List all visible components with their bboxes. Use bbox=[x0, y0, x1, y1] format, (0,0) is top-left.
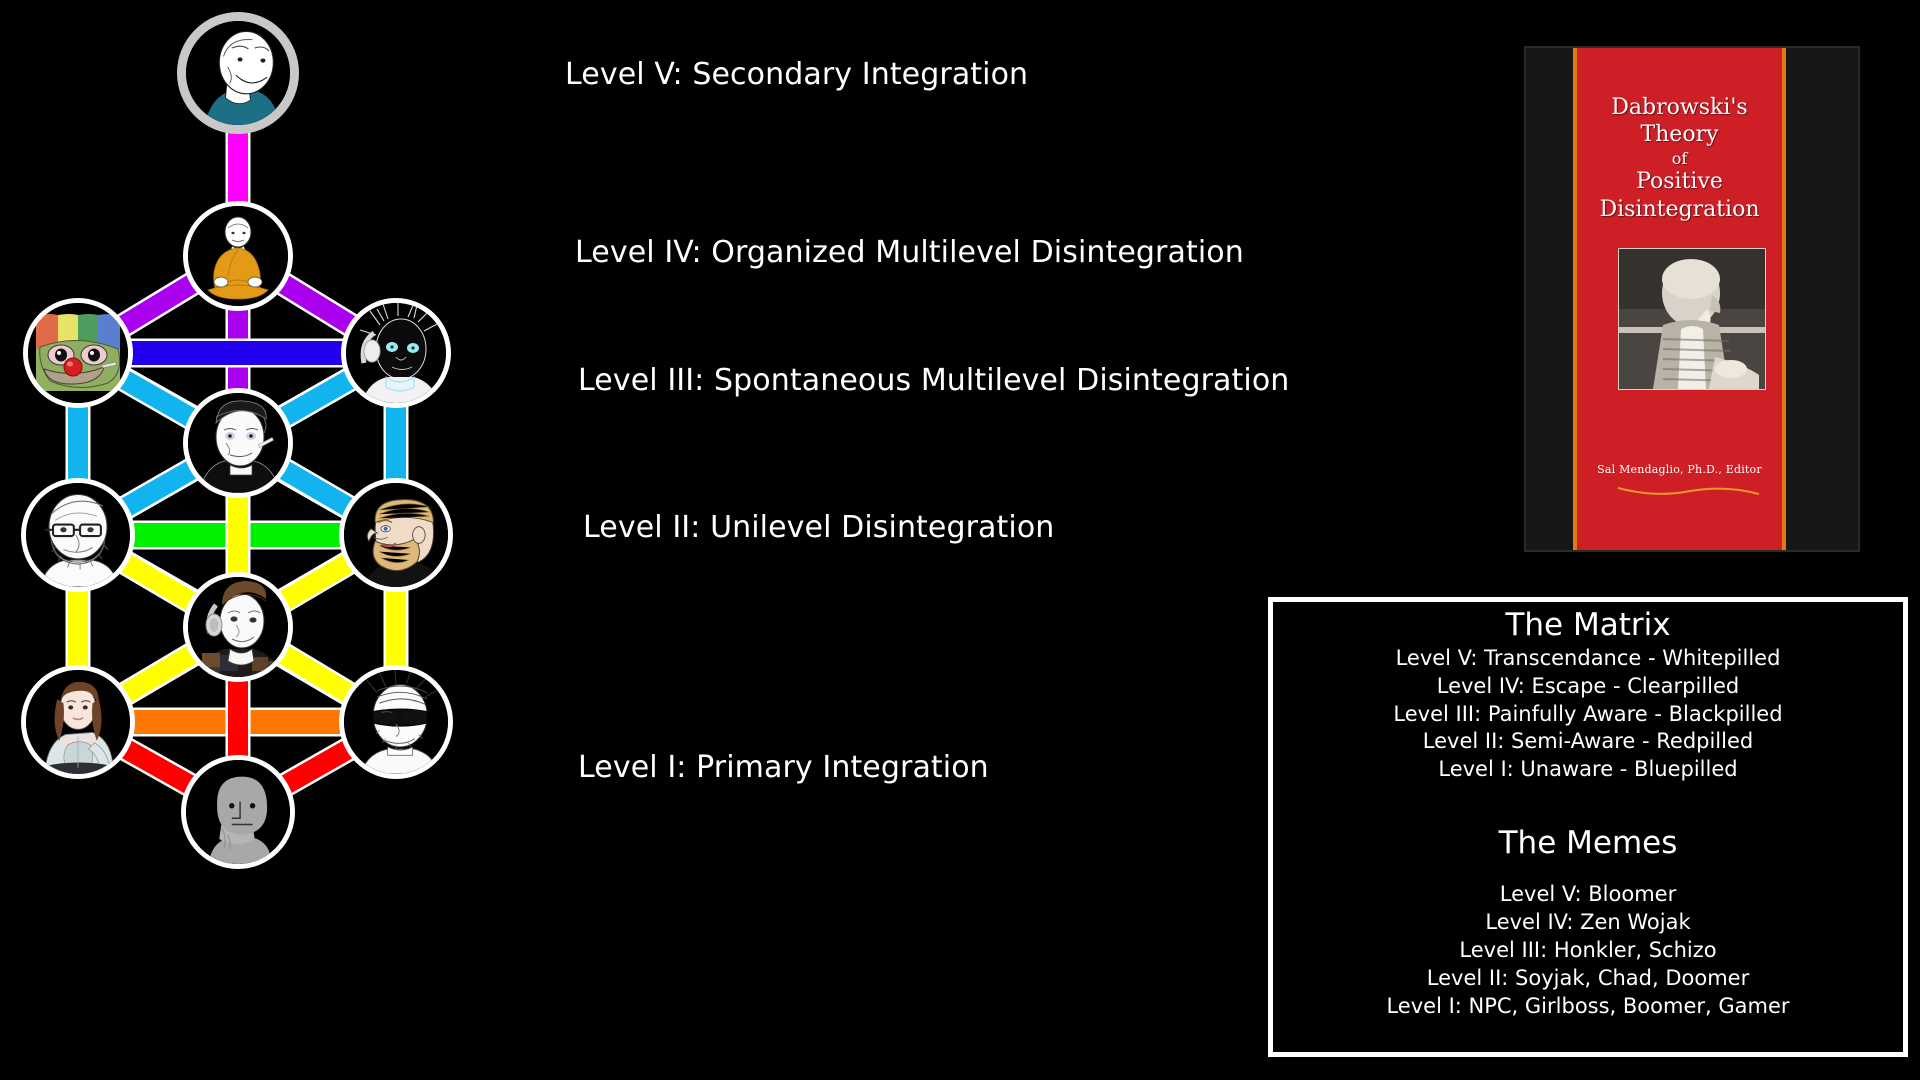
edge-yellow bbox=[283, 654, 348, 693]
matrix-list-item: Level II: Semi-Aware - Redpilled bbox=[1273, 728, 1903, 756]
edge-purple bbox=[283, 284, 351, 326]
book-title-line-5: Disintegration bbox=[1577, 196, 1782, 223]
memes-list-item: Level II: Soyjak, Chad, Doomer bbox=[1273, 965, 1903, 993]
level-label-level-5: Level V: Secondary Integration bbox=[565, 57, 1028, 92]
node-soyjak[interactable] bbox=[21, 478, 135, 592]
girlboss-avatar-icon bbox=[26, 670, 130, 774]
edge-red bbox=[126, 749, 190, 785]
level-label-level-1: Level I: Primary Integration bbox=[578, 750, 989, 785]
edge-cyan bbox=[126, 469, 192, 507]
matrix-list: Level V: Transcendance - WhitepilledLeve… bbox=[1273, 645, 1903, 785]
node-bloomer[interactable] bbox=[177, 12, 299, 134]
book-title: Dabrowski's Theory of Positive Disintegr… bbox=[1577, 94, 1782, 223]
honkler-avatar-icon bbox=[28, 303, 128, 403]
edge-yellow bbox=[125, 654, 192, 694]
memes-list-item: Level IV: Zen Wojak bbox=[1273, 909, 1903, 937]
memes-list-item: Level I: NPC, Girlboss, Boomer, Gamer bbox=[1273, 993, 1903, 1021]
node-girlboss[interactable] bbox=[21, 665, 135, 779]
soyjak-avatar-icon bbox=[26, 483, 130, 587]
npc-avatar-icon bbox=[186, 760, 290, 864]
node-chad[interactable] bbox=[339, 478, 453, 592]
gamer-avatar-icon bbox=[188, 577, 288, 677]
boomer-avatar-icon bbox=[344, 670, 448, 774]
book-title-line-4: Positive bbox=[1577, 168, 1782, 195]
node-gamer[interactable] bbox=[183, 572, 293, 682]
info-panel: The Matrix Level V: Transcendance - Whit… bbox=[1268, 597, 1908, 1057]
node-doomer[interactable] bbox=[183, 388, 293, 498]
memes-list-item: Level V: Bloomer bbox=[1273, 881, 1903, 909]
level-label-level-3: Level III: Spontaneous Multilevel Disint… bbox=[578, 363, 1289, 398]
level-label-level-2: Level II: Unilevel Disintegration bbox=[583, 510, 1054, 545]
matrix-list-item: Level I: Unaware - Bluepilled bbox=[1273, 756, 1903, 784]
memes-list: Level V: BloomerLevel IV: Zen WojakLevel… bbox=[1273, 881, 1903, 1021]
book-title-line-2: Theory bbox=[1577, 121, 1782, 148]
chad-avatar-icon bbox=[344, 483, 448, 587]
edge-red bbox=[286, 749, 348, 785]
node-zen-wojak[interactable] bbox=[183, 201, 293, 311]
schizo-avatar-icon bbox=[346, 303, 446, 403]
node-schizo[interactable] bbox=[341, 298, 451, 408]
book-title-line-1: Dabrowski's bbox=[1577, 94, 1782, 121]
matrix-list-item: Level III: Painfully Aware - Blackpilled bbox=[1273, 701, 1903, 729]
doomer-avatar-icon bbox=[188, 393, 288, 493]
matrix-list-item: Level IV: Escape - Clearpilled bbox=[1273, 673, 1903, 701]
book-author-photo bbox=[1618, 248, 1766, 390]
zen-wojak-avatar-icon bbox=[188, 206, 288, 306]
tree-of-life-diagram bbox=[0, 0, 580, 1080]
memes-heading: The Memes bbox=[1273, 826, 1903, 861]
node-boomer[interactable] bbox=[339, 665, 453, 779]
book-swash-ornament bbox=[1616, 484, 1761, 498]
matrix-heading: The Matrix bbox=[1273, 608, 1903, 643]
node-npc[interactable] bbox=[181, 755, 295, 869]
book-title-line-3: of bbox=[1577, 149, 1782, 169]
book-editor: Sal Mendaglio, Ph.D., Editor bbox=[1577, 463, 1782, 476]
book-cover: Dabrowski's Theory of Positive Disintegr… bbox=[1524, 46, 1860, 552]
level-label-level-4: Level IV: Organized Multilevel Disintegr… bbox=[575, 235, 1244, 270]
edge-cyan bbox=[284, 470, 349, 508]
memes-list-item: Level III: Honkler, Schizo bbox=[1273, 937, 1903, 965]
matrix-list-item: Level V: Transcendance - Whitepilled bbox=[1273, 645, 1903, 673]
bloomer-avatar-icon bbox=[186, 21, 290, 125]
node-honkler[interactable] bbox=[23, 298, 133, 408]
edge-purple bbox=[123, 283, 192, 325]
dabrowski-portrait-icon bbox=[1619, 249, 1765, 389]
